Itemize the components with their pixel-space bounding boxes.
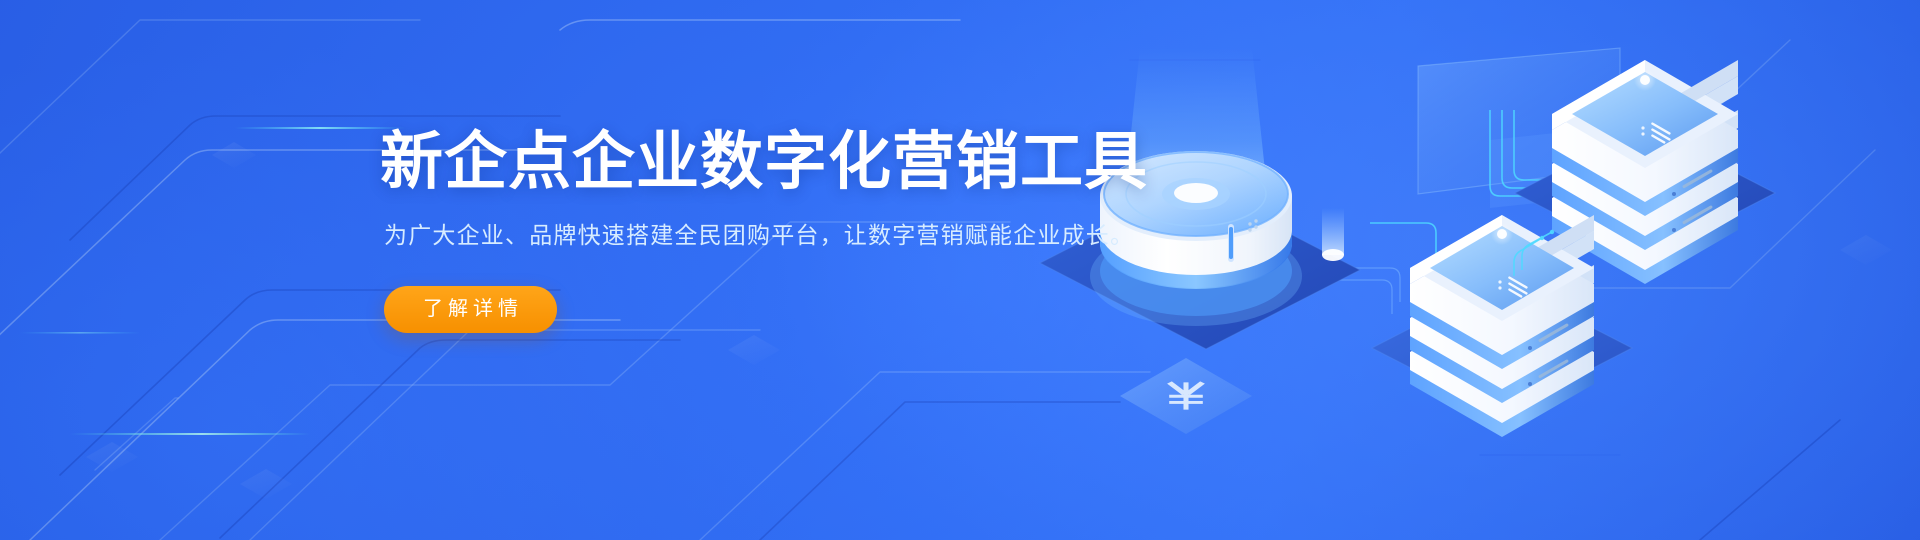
hero-banner: 新企点企业数字化营销工具 为广大企业、品牌快速搭建全民团购平台，让数字营销赋能企… [0,0,1920,540]
yuan-currency-tile [1120,358,1252,434]
banner-copy: 新企点企业数字化营销工具 为广大企业、品牌快速搭建全民团购平台，让数字营销赋能企… [380,128,1200,333]
server-stack-lower [1410,215,1594,437]
small-cylinder [1322,208,1344,261]
banner-subtitle: 为广大企业、品牌快速搭建全民团购平台，让数字营销赋能企业成长。 [384,218,1200,253]
page-title: 新企点企业数字化营销工具 [380,128,1200,196]
learn-more-button[interactable]: 了解详情 [384,286,557,333]
